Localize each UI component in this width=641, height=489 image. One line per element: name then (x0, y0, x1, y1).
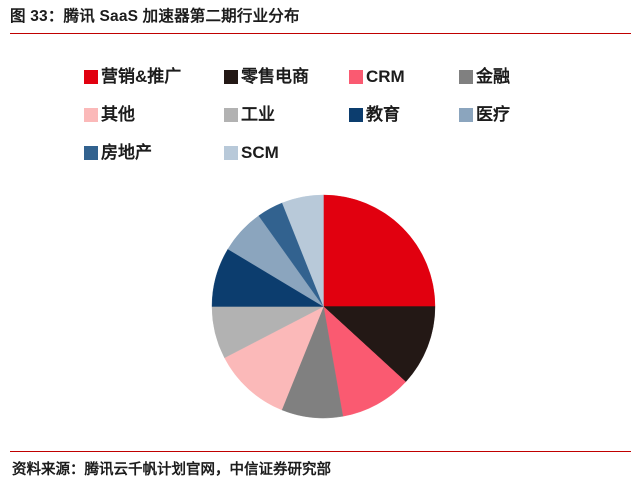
legend-swatch-crm (349, 70, 363, 84)
footer-divider (10, 451, 631, 452)
pie-slice[interactable] (324, 195, 436, 307)
legend-swatch-scm (224, 146, 238, 160)
pie-slice-group (212, 195, 435, 418)
legend-row-3: 房地产 SCM (84, 134, 554, 172)
legend-label-real-estate: 房地产 (101, 144, 152, 162)
pie-chart (212, 195, 435, 418)
source-note: 资料来源：腾讯云千帆计划官网，中信证券研究部 (12, 460, 331, 480)
legend-label-crm: CRM (366, 68, 405, 86)
legend-item-real-estate[interactable]: 房地产 (84, 144, 224, 162)
legend-item-marketing[interactable]: 营销&推广 (84, 68, 224, 86)
legend-row-2: 其他 工业 教育 医疗 (84, 96, 554, 134)
legend-item-industry[interactable]: 工业 (224, 106, 349, 124)
legend-label-education: 教育 (366, 106, 400, 124)
legend-label-industry: 工业 (241, 106, 275, 124)
legend-swatch-industry (224, 108, 238, 122)
legend-swatch-real-estate (84, 146, 98, 160)
legend-label-marketing: 营销&推广 (101, 68, 181, 86)
legend-swatch-education (349, 108, 363, 122)
page-title: 图 33：腾讯 SaaS 加速器第二期行业分布 (10, 4, 631, 30)
legend-label-retail-ecommerce: 零售电商 (241, 68, 309, 86)
legend-swatch-retail-ecommerce (224, 70, 238, 84)
legend-item-others[interactable]: 其他 (84, 106, 224, 124)
legend-item-healthcare[interactable]: 医疗 (459, 106, 510, 124)
legend-item-retail-ecommerce[interactable]: 零售电商 (224, 68, 349, 86)
pie-chart-svg (212, 195, 435, 418)
legend-swatch-healthcare (459, 108, 473, 122)
figure-title-bar: 图 33：腾讯 SaaS 加速器第二期行业分布 (10, 4, 631, 34)
legend-swatch-others (84, 108, 98, 122)
legend-label-finance: 金融 (476, 68, 510, 86)
title-divider (10, 33, 631, 34)
legend-label-others: 其他 (101, 106, 135, 124)
chart-legend: 营销&推广 零售电商 CRM 金融 其他 工业 (84, 58, 554, 172)
legend-swatch-finance (459, 70, 473, 84)
legend-item-education[interactable]: 教育 (349, 106, 459, 124)
legend-label-healthcare: 医疗 (476, 106, 510, 124)
legend-label-scm: SCM (241, 144, 279, 162)
legend-item-scm[interactable]: SCM (224, 144, 279, 162)
legend-item-finance[interactable]: 金融 (459, 68, 510, 86)
figure-container: 图 33：腾讯 SaaS 加速器第二期行业分布 营销&推广 零售电商 CRM 金… (0, 0, 641, 489)
legend-swatch-marketing (84, 70, 98, 84)
legend-item-crm[interactable]: CRM (349, 68, 459, 86)
legend-row-1: 营销&推广 零售电商 CRM 金融 (84, 58, 554, 96)
